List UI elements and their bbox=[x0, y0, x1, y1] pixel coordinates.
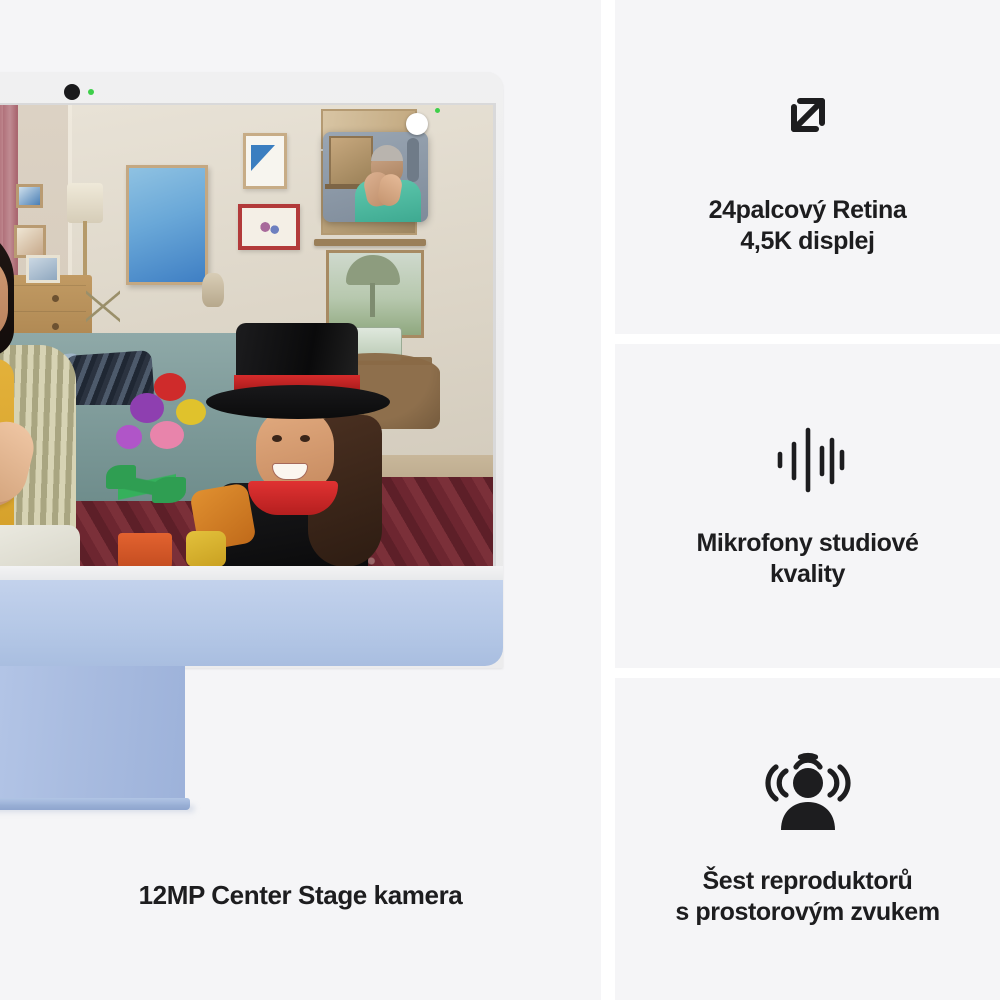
product-image-panel: 12MP Center Stage kamera bbox=[0, 0, 601, 1000]
feature-label-speakers: Šest reproduktorů s prostorovým zvukem bbox=[657, 866, 957, 929]
wall-shelf-upper bbox=[314, 239, 426, 246]
imac-stand-neck bbox=[0, 666, 185, 802]
feature-label-microphones: Mikrofony studiové kvality bbox=[679, 528, 937, 591]
girl-eye bbox=[300, 435, 310, 442]
product-caption: 12MP Center Stage kamera bbox=[0, 880, 601, 911]
camera-indicator-light-icon bbox=[88, 89, 94, 95]
pip-wall-object bbox=[407, 138, 419, 182]
feature-label-display: 24palcový Retina 4,5K displej bbox=[691, 195, 925, 258]
feature-card-microphones[interactable]: Mikrofony studiové kvality bbox=[615, 344, 1000, 668]
product-feature-page: 12MP Center Stage kamera 24palcový Retin… bbox=[0, 0, 1000, 1000]
facetime-control-button[interactable] bbox=[406, 113, 428, 135]
floor-lamp-shade bbox=[67, 183, 103, 223]
flower-pot bbox=[118, 533, 172, 567]
wall-picture-blue-large bbox=[126, 165, 208, 285]
facetime-pip-window[interactable] bbox=[323, 132, 428, 222]
flower-leaf bbox=[152, 477, 186, 503]
person-woman-clapping bbox=[0, 225, 100, 567]
wall-picture-tall bbox=[243, 133, 287, 189]
dome-lamp-stem bbox=[370, 283, 375, 317]
person-girl-magician bbox=[188, 323, 418, 567]
expand-diagonal-icon bbox=[770, 77, 846, 153]
feature-card-display[interactable]: 24palcový Retina 4,5K displej bbox=[615, 0, 1000, 334]
feature-card-speakers[interactable]: Šest reproduktorů s prostorovým zvukem bbox=[615, 678, 1000, 1000]
imac-stand-shadow bbox=[0, 806, 194, 814]
feature-card-column: 24palcový Retina 4,5K displej Mikrofony … bbox=[615, 0, 1000, 1000]
flower-violet bbox=[116, 425, 142, 449]
imac-screen bbox=[0, 103, 496, 567]
audio-waveform-icon bbox=[770, 422, 846, 498]
flower-leaf bbox=[106, 465, 136, 489]
flower-pink bbox=[150, 421, 184, 449]
camera-icon bbox=[64, 84, 80, 100]
wall-picture-red-frame bbox=[238, 204, 300, 250]
ceramic-vase bbox=[202, 273, 224, 307]
spatial-audio-person-icon bbox=[765, 750, 851, 832]
girl-cape-collar bbox=[248, 481, 338, 515]
top-hat-brim bbox=[206, 385, 390, 419]
imac-chin bbox=[0, 580, 503, 666]
screen-indicator-light-icon bbox=[435, 108, 440, 113]
girl-eye bbox=[272, 435, 282, 442]
facetime-scene bbox=[0, 105, 493, 567]
woman-pants bbox=[0, 525, 80, 567]
wall-picture-small-1 bbox=[16, 184, 43, 208]
flower-red bbox=[154, 373, 186, 401]
yellow-cloth-prop bbox=[186, 531, 226, 567]
